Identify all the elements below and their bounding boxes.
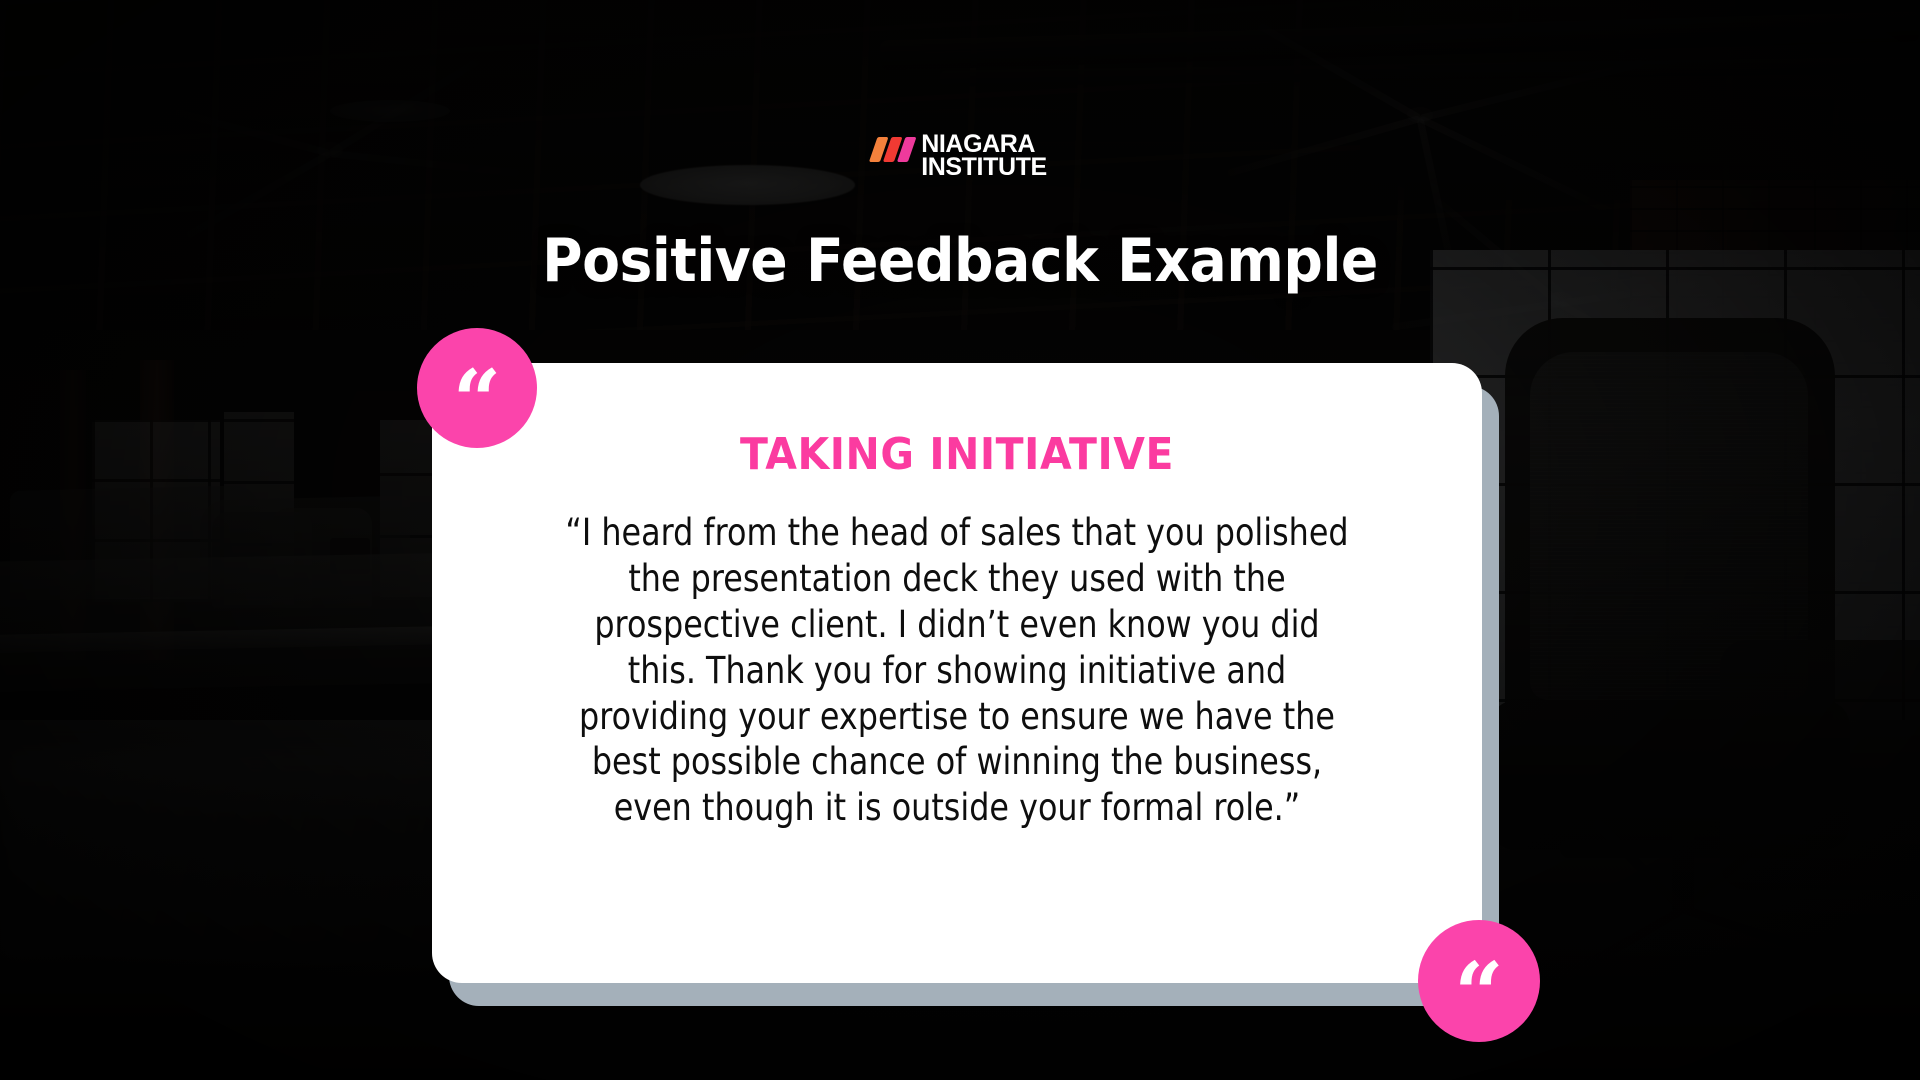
quotation-mark-icon: “ bbox=[1454, 952, 1503, 1038]
quote-card-title: TAKING INITIATIVE bbox=[513, 429, 1400, 480]
slide-canvas: NIAGARA INSTITUTE Positive Feedback Exam… bbox=[0, 0, 1920, 1080]
quote-badge-top-left: “ bbox=[417, 328, 537, 448]
page-title: Positive Feedback Example bbox=[77, 226, 1843, 296]
quote-card-text: “I heard from the head of sales that you… bbox=[547, 510, 1367, 831]
niagara-institute-logo: NIAGARA INSTITUTE bbox=[873, 133, 1047, 180]
quote-badge-bottom-right: “ bbox=[1418, 920, 1540, 1042]
quote-card: TAKING INITIATIVE “I heard from the head… bbox=[432, 363, 1482, 983]
logo-line-institute: INSTITUTE bbox=[921, 156, 1047, 179]
niagara-slash-bars-icon bbox=[873, 137, 912, 162]
quote-card-wrapper: TAKING INITIATIVE “I heard from the head… bbox=[432, 363, 1482, 983]
logo-wordmark: NIAGARA INSTITUTE bbox=[921, 133, 1047, 180]
quotation-mark-icon: “ bbox=[453, 359, 501, 443]
